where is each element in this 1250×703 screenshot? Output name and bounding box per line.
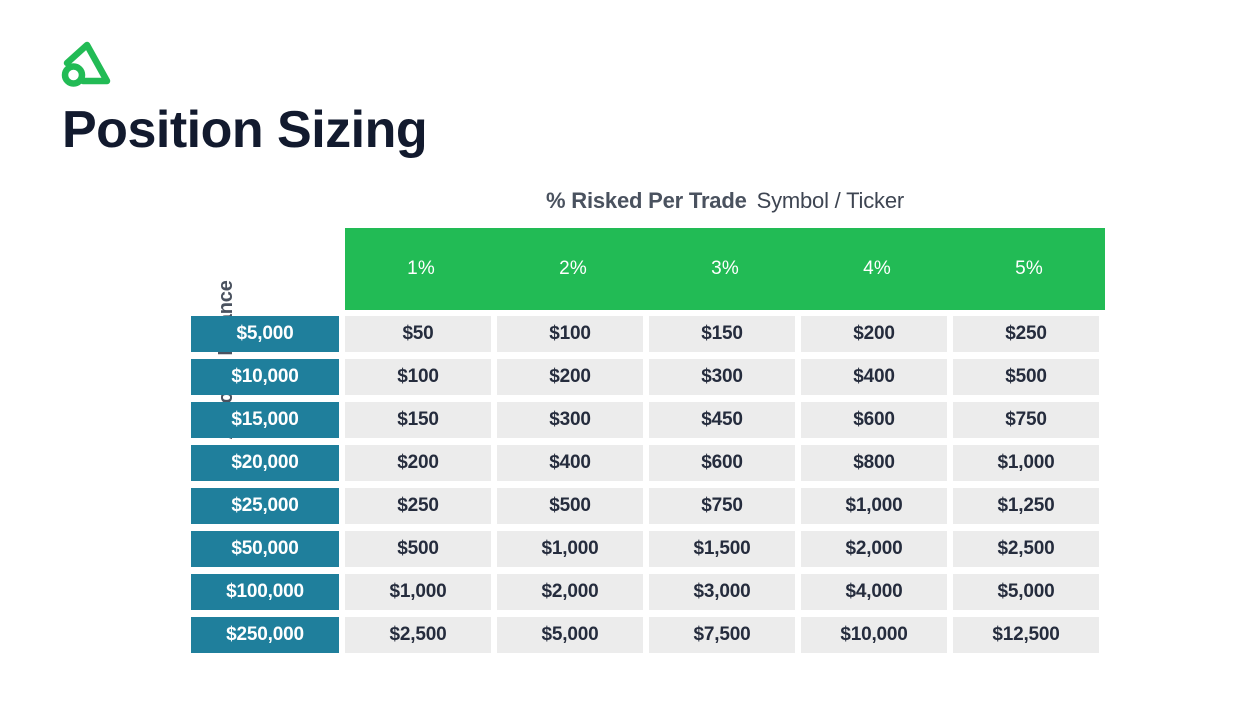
table-cell: $400: [497, 445, 643, 481]
table-cell: $500: [497, 488, 643, 524]
table-cell: $4,000: [801, 574, 947, 610]
row-header: $50,000: [191, 531, 339, 567]
row-header: $5,000: [191, 316, 339, 352]
table-cell: $5,000: [497, 617, 643, 653]
table-cell: $1,500: [649, 531, 795, 567]
table-cell: $600: [801, 402, 947, 438]
row-header: $250,000: [191, 617, 339, 653]
table-row: $50,000 $500 $1,000 $1,500 $2,000 $2,500: [191, 531, 1099, 567]
table-cell: $150: [649, 316, 795, 352]
table-cell: $500: [345, 531, 491, 567]
table-cell: $50: [345, 316, 491, 352]
table-row: $15,000 $150 $300 $450 $600 $750: [191, 402, 1099, 438]
table-cell: $1,000: [953, 445, 1099, 481]
arrow-loop-logo-icon: [58, 40, 116, 92]
table-cell: $7,500: [649, 617, 795, 653]
table-cell: $600: [649, 445, 795, 481]
table-cell: $750: [649, 488, 795, 524]
table-cell: $3,000: [649, 574, 795, 610]
table-cell: $1,250: [953, 488, 1099, 524]
table-cell: $400: [801, 359, 947, 395]
row-header: $10,000: [191, 359, 339, 395]
table-cell: $2,000: [801, 531, 947, 567]
table-cell: $500: [953, 359, 1099, 395]
table-cell: $200: [801, 316, 947, 352]
table-cell: $12,500: [953, 617, 1099, 653]
table-cell: $300: [649, 359, 795, 395]
table-cell: $100: [497, 316, 643, 352]
table-cell: $2,500: [953, 531, 1099, 567]
table-cell: $250: [953, 316, 1099, 352]
table-cell: $1,000: [497, 531, 643, 567]
column-header-3: 3%: [649, 258, 801, 280]
table-cell: $200: [345, 445, 491, 481]
column-axis-caption-secondary: Symbol / Ticker: [757, 188, 904, 213]
column-axis-caption-primary: % Risked Per Trade: [546, 188, 747, 213]
table-body: $5,000 $50 $100 $150 $200 $250 $10,000 $…: [191, 316, 1099, 660]
row-header: $15,000: [191, 402, 339, 438]
column-axis-caption: % Risked Per TradeSymbol / Ticker: [345, 188, 1105, 214]
table-cell: $2,500: [345, 617, 491, 653]
table-cell: $1,000: [801, 488, 947, 524]
slide-canvas: Position Sizing % Risked Per TradeSymbol…: [0, 0, 1250, 703]
table-cell: $200: [497, 359, 643, 395]
table-cell: $750: [953, 402, 1099, 438]
table-cell: $2,000: [497, 574, 643, 610]
column-header-5: 5%: [953, 258, 1105, 280]
table-row: $25,000 $250 $500 $750 $1,000 $1,250: [191, 488, 1099, 524]
table-cell: $5,000: [953, 574, 1099, 610]
table-cell: $150: [345, 402, 491, 438]
table-cell: $250: [345, 488, 491, 524]
table-header-row: 1% 2% 3% 4% 5%: [345, 228, 1105, 310]
row-header: $25,000: [191, 488, 339, 524]
table-cell: $100: [345, 359, 491, 395]
table-cell: $300: [497, 402, 643, 438]
table-cell: $10,000: [801, 617, 947, 653]
column-header-1: 1%: [345, 258, 497, 280]
table-row: $250,000 $2,500 $5,000 $7,500 $10,000 $1…: [191, 617, 1099, 653]
table-row: $10,000 $100 $200 $300 $400 $500: [191, 359, 1099, 395]
table-cell: $800: [801, 445, 947, 481]
row-header: $100,000: [191, 574, 339, 610]
table-row: $100,000 $1,000 $2,000 $3,000 $4,000 $5,…: [191, 574, 1099, 610]
table-cell: $1,000: [345, 574, 491, 610]
column-header-4: 4%: [801, 258, 953, 280]
table-row: $5,000 $50 $100 $150 $200 $250: [191, 316, 1099, 352]
table-cell: $450: [649, 402, 795, 438]
column-header-2: 2%: [497, 258, 649, 280]
row-header: $20,000: [191, 445, 339, 481]
table-row: $20,000 $200 $400 $600 $800 $1,000: [191, 445, 1099, 481]
page-title: Position Sizing: [62, 104, 427, 156]
